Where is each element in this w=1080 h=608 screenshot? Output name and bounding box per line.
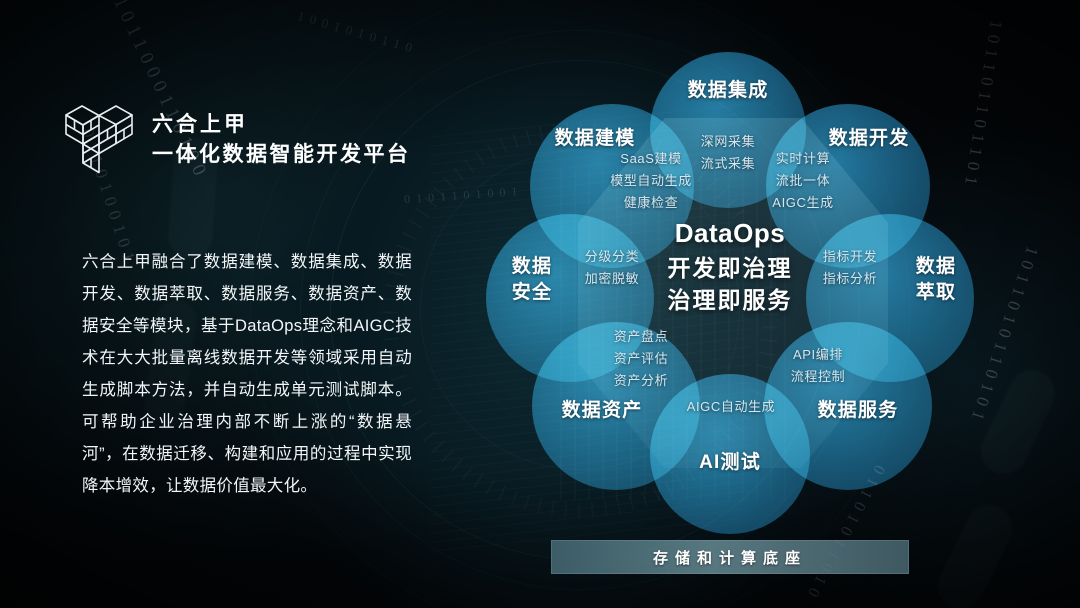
brand-text: 六合上甲 一体化数据智能开发平台 bbox=[152, 105, 411, 170]
base-bar-label: 存储和计算底座 bbox=[653, 547, 807, 568]
brand-name: 六合上甲 bbox=[152, 111, 411, 139]
features-data-asset: 资产盘点 资产评估 资产分析 bbox=[585, 326, 697, 392]
label-data-integration: 数据集成 bbox=[632, 78, 824, 104]
left-info-panel: 六合上甲 一体化数据智能开发平台 六合上甲融合了数据建模、数据集成、数据开发、数… bbox=[0, 0, 460, 608]
center-headline: DataOps 开发即治理 治理即服务 bbox=[580, 218, 880, 316]
storage-compute-base-bar[interactable]: 存储和计算底座 bbox=[551, 540, 909, 574]
isometric-brick-block-logo-icon bbox=[62, 96, 136, 178]
center-headline-line1: DataOps bbox=[580, 218, 880, 249]
brand-block: 六合上甲 一体化数据智能开发平台 bbox=[62, 96, 411, 178]
brand-subtitle: 一体化数据智能开发平台 bbox=[152, 141, 411, 169]
features-ai-testing: AIGC自动生成 bbox=[656, 396, 806, 418]
center-headline-line2: 开发即治理 bbox=[580, 252, 880, 284]
features-data-service: API编排 流程控制 bbox=[766, 344, 870, 388]
intro-paragraph: 六合上甲融合了数据建模、数据集成、数据开发、数据萃取、数据服务、数据资产、数据安… bbox=[82, 246, 412, 502]
label-ai-testing: AI测试 bbox=[650, 450, 810, 476]
features-data-development: 实时计算 流批一体 AIGC生成 bbox=[738, 148, 868, 214]
venn-diagram: 数据集成 数据建模 数据开发 数据 安全 数据 萃取 数据资产 数据服务 AI测… bbox=[460, 18, 1000, 558]
center-headline-line3: 治理即服务 bbox=[580, 284, 880, 316]
